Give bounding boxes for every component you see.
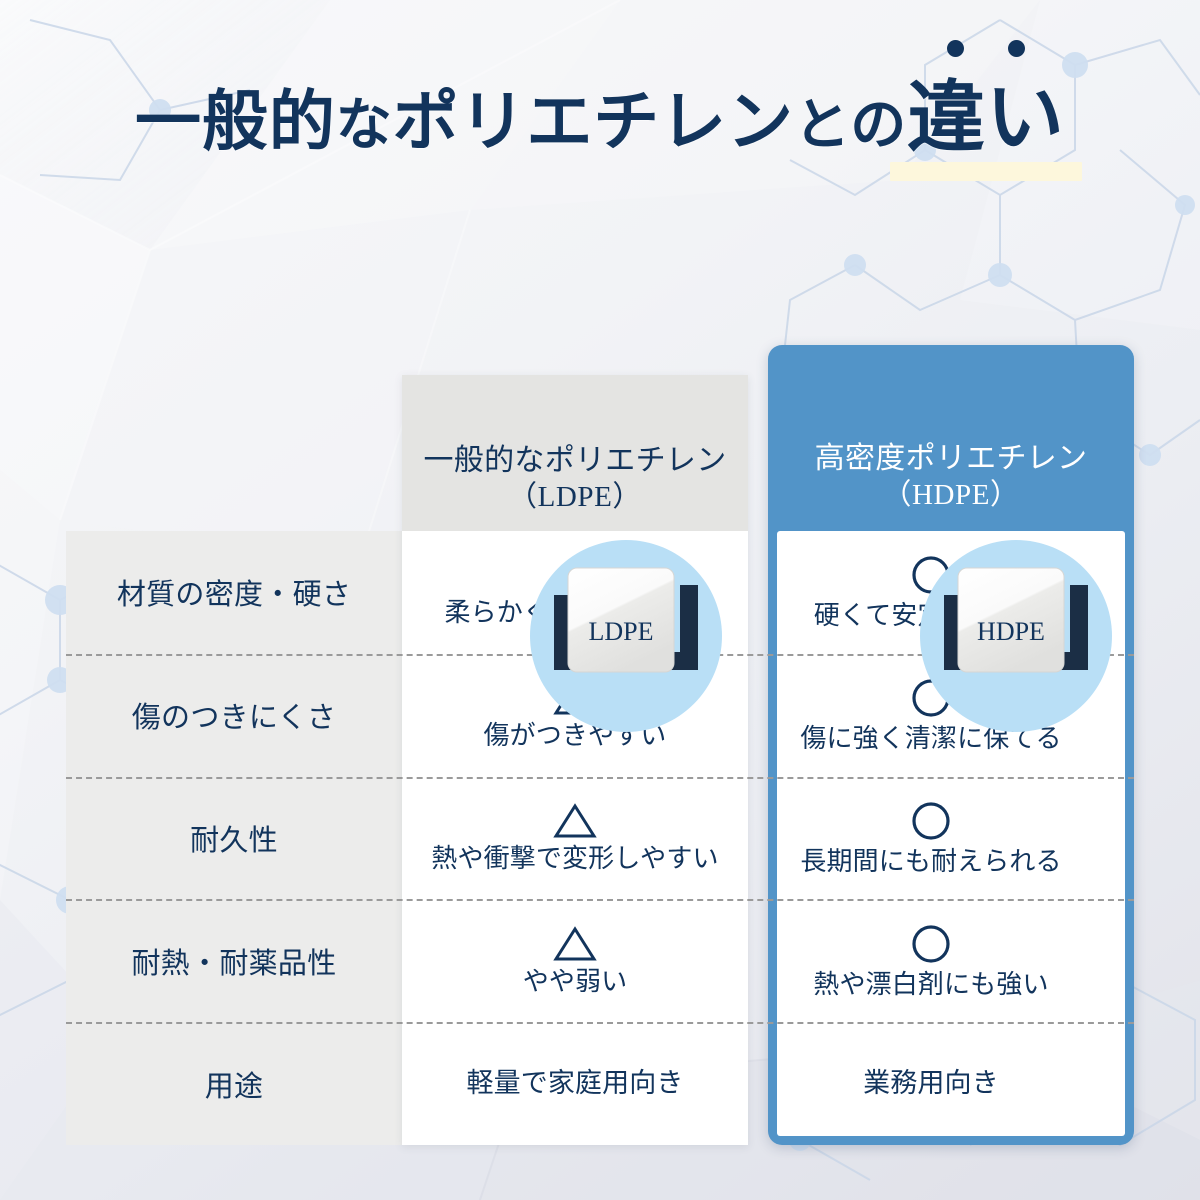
hdpe-rating-mark [909, 799, 953, 843]
table-row: 用途軽量で家庭用向き業務用向き [66, 1022, 1134, 1145]
comparison-table: 一般的なポリエチレン （LDPE） 高密度ポリエチレン （HDPE） LDPE [66, 345, 1134, 1145]
row-label: 耐久性 [66, 777, 402, 900]
hdpe-cell: 熱や漂白剤にも強い [748, 899, 1114, 1022]
table-row: 耐熱・耐薬品性やや弱い熱や漂白剤にも強い [66, 899, 1134, 1022]
hdpe-rating-mark [909, 922, 953, 966]
title-highlight-bar [890, 162, 1082, 181]
ldpe-description: やや弱い [523, 966, 628, 997]
ldpe-jug-icon: LDPE [530, 540, 722, 732]
hdpe-cell: 長期間にも耐えられる [748, 777, 1114, 900]
hdpe-header-title: 高密度ポリエチレン [815, 440, 1088, 478]
triangle-mark-icon [553, 802, 597, 840]
ldpe-description: 軽量で家庭用向き [466, 1067, 683, 1099]
table-row: 耐久性熱や衝撃で変形しやすい長期間にも耐えられる [66, 777, 1134, 900]
hdpe-description: 熱や漂白剤にも強い [813, 969, 1048, 1000]
title-part-3: ポリエチレン [393, 86, 794, 159]
ldpe-cell: 熱や衝撃で変形しやすい [402, 777, 748, 900]
emphasis-dots-icon [947, 40, 1025, 57]
ldpe-header-subtitle: （LDPE） [508, 479, 642, 517]
hdpe-description: 業務用向き [863, 1067, 999, 1099]
ldpe-badge: LDPE [530, 540, 722, 732]
row-label: 耐熱・耐薬品性 [66, 899, 402, 1022]
circle-mark-icon [909, 922, 953, 966]
hdpe-jug-icon: HDPE [920, 540, 1112, 732]
ldpe-icon-text: LDPE [589, 617, 654, 646]
ldpe-cell: 軽量で家庭用向き [402, 1022, 748, 1145]
triangle-mark-icon [553, 925, 597, 963]
title-emphasis: 違い [907, 74, 1065, 161]
ldpe-column-header: 一般的なポリエチレン （LDPE） [402, 375, 748, 531]
title-part-5: 違い [907, 74, 1065, 161]
hdpe-column-header: 高密度ポリエチレン （HDPE） [768, 345, 1134, 531]
ldpe-rating-mark [553, 925, 597, 963]
circle-mark-icon [909, 799, 953, 843]
hdpe-badge: HDPE [920, 540, 1112, 732]
title-part-1: 一般的 [135, 86, 336, 159]
hdpe-cell: 業務用向き [748, 1022, 1114, 1145]
hdpe-icon-text: HDPE [977, 617, 1045, 646]
ldpe-cell: やや弱い [402, 899, 748, 1022]
hdpe-description: 長期間にも耐えられる [800, 846, 1061, 877]
title-part-2: な [336, 95, 393, 157]
row-label: 材質の密度・硬さ [66, 531, 402, 654]
row-label: 傷のつきにくさ [66, 654, 402, 777]
hdpe-header-subtitle: （HDPE） [882, 477, 1019, 515]
title-part-4: との [794, 95, 907, 157]
row-label: 用途 [66, 1022, 402, 1145]
page-title: 一般的なポリエチレンとの違い [0, 74, 1200, 162]
ldpe-rating-mark [553, 802, 597, 840]
ldpe-header-title: 一般的なポリエチレン [424, 442, 727, 480]
ldpe-description: 熱や衝撃で変形しやすい [431, 843, 718, 874]
